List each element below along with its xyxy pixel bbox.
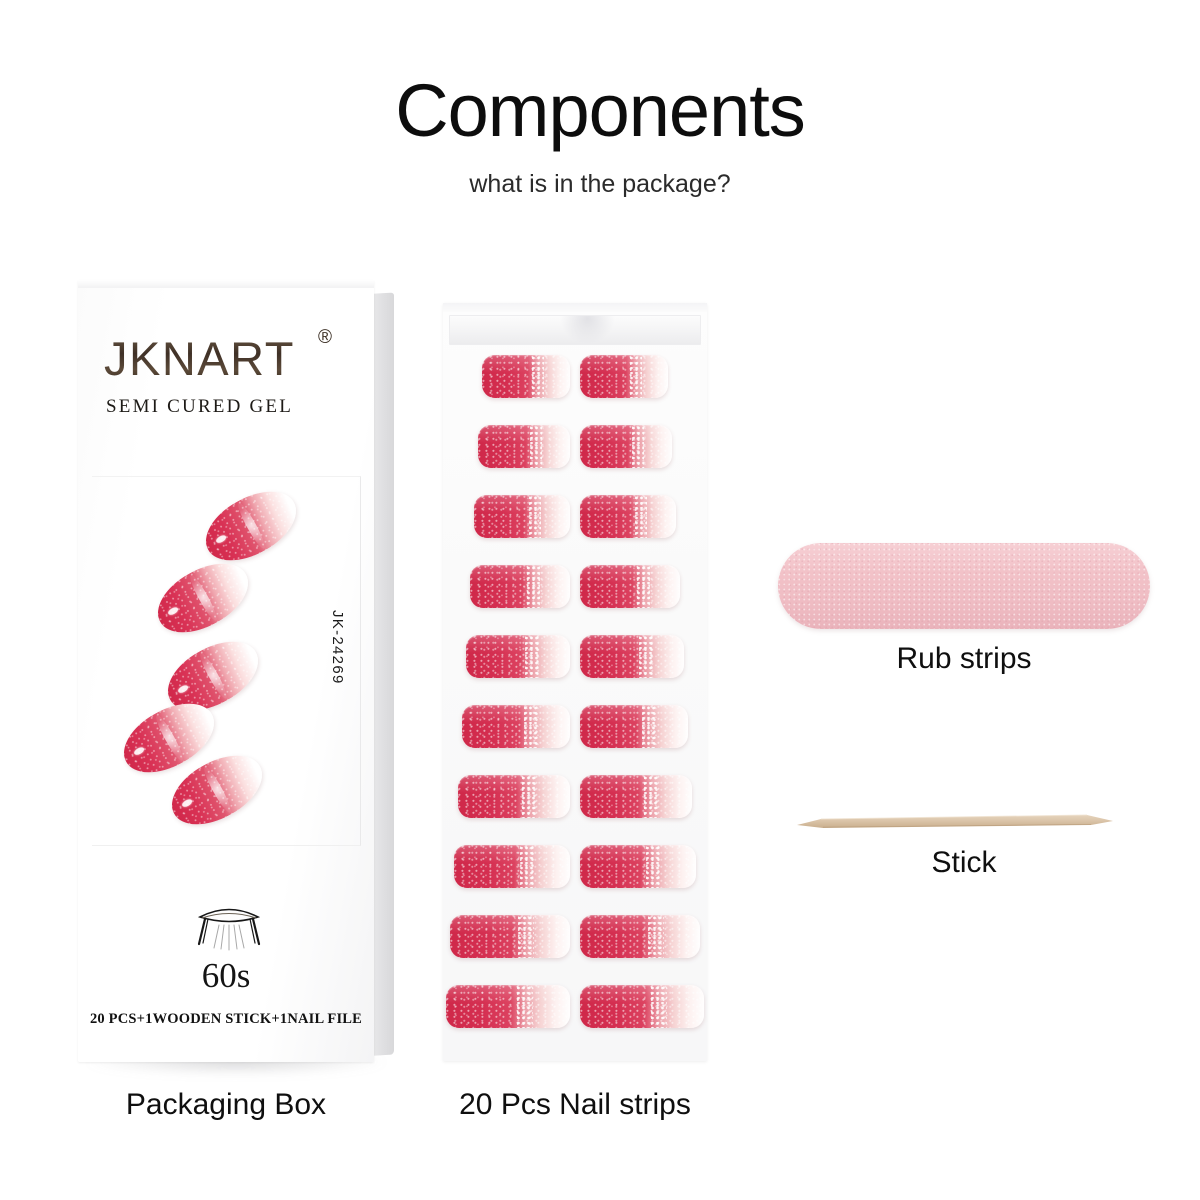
product-code-label: JK-24269 xyxy=(329,610,346,685)
nail-strip xyxy=(580,635,684,678)
cure-time-label: 60s xyxy=(78,958,374,993)
strip-row xyxy=(443,565,707,608)
infographic-page: Components what is in the package? JKNAR… xyxy=(0,0,1200,1200)
strip-row xyxy=(443,355,707,398)
product-line-label: SEMI CURED GEL xyxy=(106,397,366,416)
nail-strip xyxy=(580,775,692,818)
nail-strip xyxy=(580,705,688,748)
strip-row xyxy=(443,775,707,818)
nail-strip xyxy=(580,355,668,398)
stick-label: Stick xyxy=(780,848,1148,878)
nail-swatch xyxy=(195,478,308,574)
nail-strip xyxy=(580,495,676,538)
nail-strip xyxy=(470,565,570,608)
nail-swatch xyxy=(147,550,260,646)
uv-lamp-icon xyxy=(194,900,264,956)
packaging-box-caption: Packaging Box xyxy=(56,1090,396,1120)
box-front-face: JKNART ® SEMI CURED GEL JK-24269 xyxy=(78,280,374,1062)
page-subtitle: what is in the package? xyxy=(0,172,1200,197)
strip-row xyxy=(443,635,707,678)
registered-trademark-icon: ® xyxy=(318,328,332,347)
nail-strip xyxy=(474,495,570,538)
strip-row xyxy=(443,985,707,1028)
nail-file-icon xyxy=(778,543,1150,629)
nail-strip xyxy=(466,635,570,678)
nail-strip xyxy=(580,425,672,468)
nail-strip xyxy=(462,705,570,748)
nail-strip xyxy=(454,845,570,888)
nail-strip xyxy=(478,425,570,468)
nail-strip xyxy=(580,985,704,1028)
sheet-top-edge xyxy=(443,303,707,312)
nail-strip xyxy=(580,845,696,888)
wooden-stick-icon xyxy=(795,812,1115,834)
strip-row xyxy=(443,425,707,468)
strip-row xyxy=(443,495,707,538)
sheet-background xyxy=(443,303,707,1061)
packaging-box: JKNART ® SEMI CURED GEL JK-24269 xyxy=(78,280,396,1070)
nail-strip xyxy=(482,355,570,398)
box-contents-label: 20 PCS+1WOODEN STICK+1NAIL FILE xyxy=(78,1012,374,1027)
rub-strips-label: Rub strips xyxy=(780,644,1148,674)
brand-logo: JKNART xyxy=(104,332,354,386)
strip-row xyxy=(443,705,707,748)
strip-grid xyxy=(443,355,707,1055)
strip-row xyxy=(443,845,707,888)
nail-strips-caption: 20 Pcs Nail strips xyxy=(425,1090,725,1120)
nail-strip-sheet xyxy=(443,303,707,1063)
sheet-seal-band xyxy=(449,315,701,345)
strip-row xyxy=(443,915,707,958)
nail-strip xyxy=(450,915,570,958)
nail-strip xyxy=(458,775,570,818)
nail-strip xyxy=(580,565,680,608)
nail-swatch-illustration xyxy=(92,488,360,848)
nail-strip xyxy=(446,985,570,1028)
page-title: Components xyxy=(0,74,1200,148)
nail-strip xyxy=(580,915,700,958)
